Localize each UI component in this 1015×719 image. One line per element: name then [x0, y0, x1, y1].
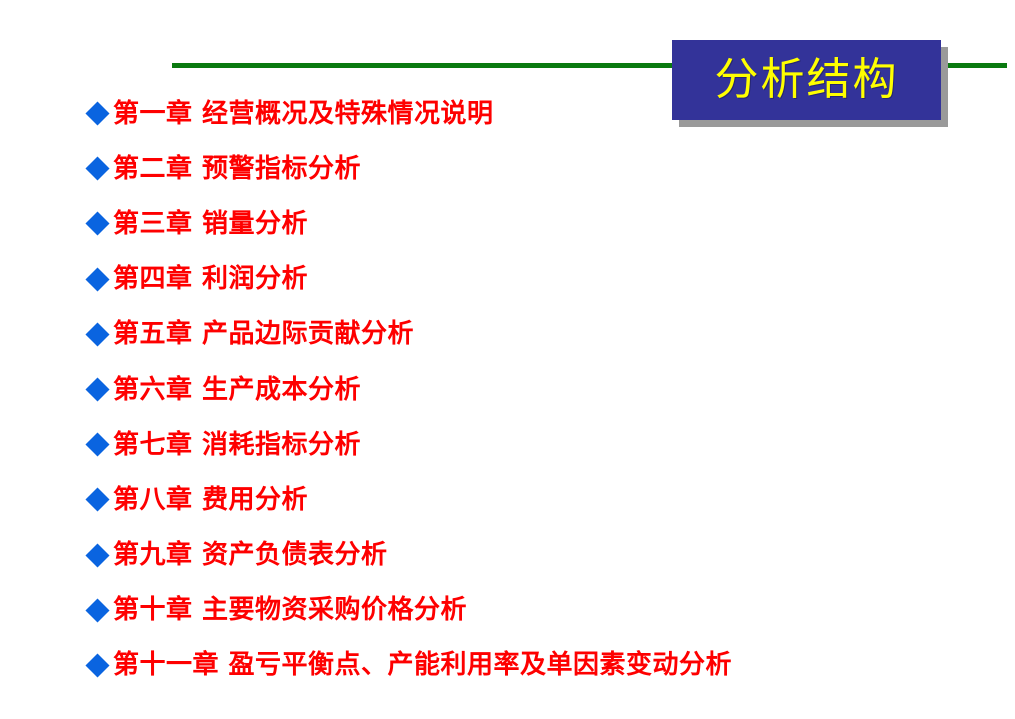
slide-canvas: 分析结构 第一章 经营概况及特殊情况说明 第二章 预警指标分析 第三章 销量分析…	[0, 0, 1015, 719]
list-item[interactable]: 第十一章 盈亏平衡点、产能利用率及单因素变动分析	[88, 638, 988, 693]
list-item[interactable]: 第十章 主要物资采购价格分析	[88, 583, 988, 638]
diamond-bullet-icon	[85, 102, 109, 126]
agenda-item-label: 第九章 资产负债表分析	[113, 542, 388, 568]
list-item[interactable]: 第六章 生产成本分析	[88, 362, 988, 417]
diamond-bullet-icon	[85, 378, 109, 402]
agenda-item-label: 第二章 预警指标分析	[113, 156, 361, 182]
agenda-list: 第一章 经营概况及特殊情况说明 第二章 预警指标分析 第三章 销量分析 第四章 …	[88, 86, 988, 693]
diamond-bullet-icon	[85, 433, 109, 457]
list-item[interactable]: 第二章 预警指标分析	[88, 141, 988, 196]
agenda-item-label: 第一章 经营概况及特殊情况说明	[113, 101, 494, 127]
diamond-bullet-icon	[85, 653, 109, 677]
list-item[interactable]: 第四章 利润分析	[88, 252, 988, 307]
agenda-item-label: 第三章 销量分析	[113, 211, 308, 237]
list-item[interactable]: 第五章 产品边际贡献分析	[88, 307, 988, 362]
diamond-bullet-icon	[85, 267, 109, 291]
agenda-item-label: 第十一章 盈亏平衡点、产能利用率及单因素变动分析	[113, 652, 732, 678]
agenda-item-label: 第六章 生产成本分析	[113, 377, 361, 403]
list-item[interactable]: 第八章 费用分析	[88, 472, 988, 527]
agenda-item-label: 第七章 消耗指标分析	[113, 432, 361, 458]
list-item[interactable]: 第一章 经营概况及特殊情况说明	[88, 86, 988, 141]
diamond-bullet-icon	[85, 157, 109, 181]
agenda-item-label: 第五章 产品边际贡献分析	[113, 321, 414, 347]
list-item[interactable]: 第三章 销量分析	[88, 196, 988, 251]
list-item[interactable]: 第七章 消耗指标分析	[88, 417, 988, 472]
diamond-bullet-icon	[85, 598, 109, 622]
diamond-bullet-icon	[85, 543, 109, 567]
agenda-item-label: 第十章 主要物资采购价格分析	[113, 597, 467, 623]
diamond-bullet-icon	[85, 322, 109, 346]
diamond-bullet-icon	[85, 212, 109, 236]
agenda-item-label: 第八章 费用分析	[113, 487, 308, 513]
agenda-item-label: 第四章 利润分析	[113, 266, 308, 292]
diamond-bullet-icon	[85, 488, 109, 512]
list-item[interactable]: 第九章 资产负债表分析	[88, 528, 988, 583]
